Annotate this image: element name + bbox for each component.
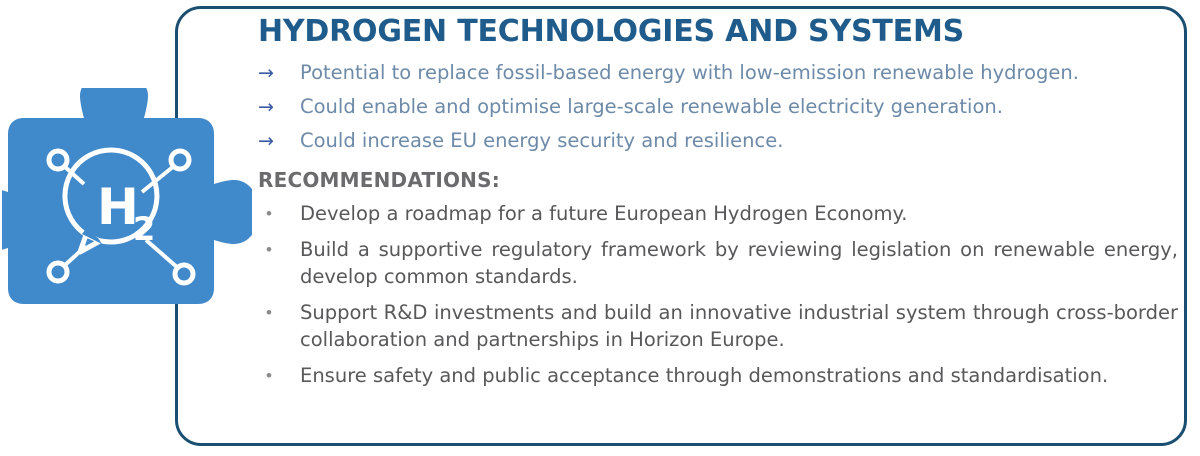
recommendation-text: Develop a roadmap for a future European … xyxy=(300,200,1178,227)
recommendation-text: Support R&D investments and build an inn… xyxy=(300,299,1178,353)
page-title: HYDROGEN TECHNOLOGIES AND SYSTEMS xyxy=(258,14,1178,50)
arrow-right-icon: → xyxy=(258,94,300,120)
list-item: • Ensure safety and public acceptance th… xyxy=(258,362,1178,389)
recommendation-text: Build a supportive regulatory framework … xyxy=(300,236,1178,290)
list-item: → Could enable and optimise large-scale … xyxy=(258,94,1178,120)
highlight-text: Could enable and optimise large-scale re… xyxy=(300,94,1178,120)
bullet-icon: • xyxy=(258,200,300,227)
recommendation-text: Ensure safety and public acceptance thro… xyxy=(300,362,1178,389)
panel-content: HYDROGEN TECHNOLOGIES AND SYSTEMS → Pote… xyxy=(258,14,1178,398)
list-item: • Develop a roadmap for a future Europea… xyxy=(258,200,1178,227)
list-item: • Support R&D investments and build an i… xyxy=(258,299,1178,353)
highlight-text: Potential to replace fossil-based energy… xyxy=(300,60,1178,86)
bullet-icon: • xyxy=(258,236,300,263)
hydrogen-subscript: 2 xyxy=(133,210,155,248)
list-item: → Potential to replace fossil-based ener… xyxy=(258,60,1178,86)
list-item: • Build a supportive regulatory framewor… xyxy=(258,236,1178,290)
bullet-icon: • xyxy=(258,299,300,326)
list-item: → Could increase EU energy security and … xyxy=(258,128,1178,154)
arrow-right-icon: → xyxy=(258,128,300,154)
recommendations-heading: RECOMMENDATIONS: xyxy=(258,168,1178,192)
hydrogen-puzzle-piece-icon: H 2 xyxy=(2,88,252,310)
puzzle-piece-graphic: H 2 xyxy=(2,88,252,310)
recommendations-list: • Develop a roadmap for a future Europea… xyxy=(258,200,1178,389)
highlights-list: → Potential to replace fossil-based ener… xyxy=(258,60,1178,154)
bullet-icon: • xyxy=(258,362,300,389)
arrow-right-icon: → xyxy=(258,60,300,86)
highlight-text: Could increase EU energy security and re… xyxy=(300,128,1178,154)
